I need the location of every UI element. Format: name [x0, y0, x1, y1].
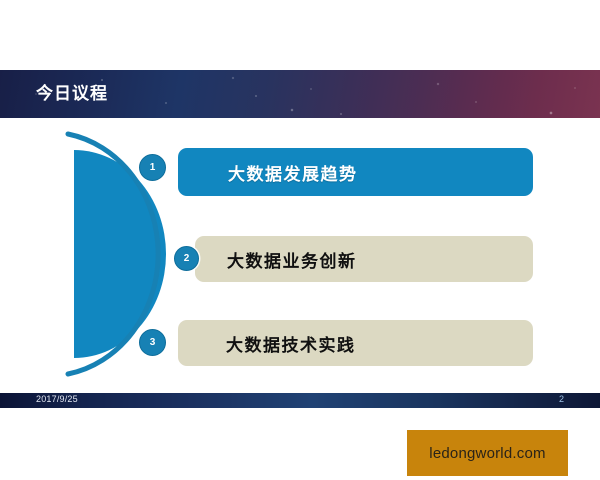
agenda-number-badge-3: 3	[139, 329, 166, 356]
watermark-text: ledongworld.com	[429, 445, 545, 462]
agenda-number-badge-1: 1	[139, 154, 166, 181]
watermark-badge: ledongworld.com	[407, 430, 568, 476]
agenda-item-2-label: 大数据业务创新	[227, 247, 357, 272]
slide-footer-bar: 2017/9/25 2	[0, 393, 600, 408]
agenda-item-1-label: 大数据发展趋势	[228, 160, 358, 185]
footer-date: 2017/9/25	[36, 394, 78, 404]
page-title: 今日议程	[36, 79, 108, 104]
footer-page-number: 2	[559, 394, 564, 404]
agenda-number-badge-2: 2	[174, 246, 199, 271]
agenda-item-2[interactable]: 大数据业务创新	[195, 236, 533, 282]
agenda-item-1[interactable]: 大数据发展趋势	[178, 148, 533, 196]
agenda-item-3[interactable]: 大数据技术实践	[178, 320, 533, 366]
slide-title-banner: 今日议程	[0, 70, 600, 118]
agenda-item-3-label: 大数据技术实践	[226, 331, 356, 356]
half-disc-shape	[74, 150, 166, 358]
slide-canvas: 今日议程 大数据发展趋势 大数据业务创新 大数据技术实践 1 2 3 2017/…	[0, 0, 600, 480]
